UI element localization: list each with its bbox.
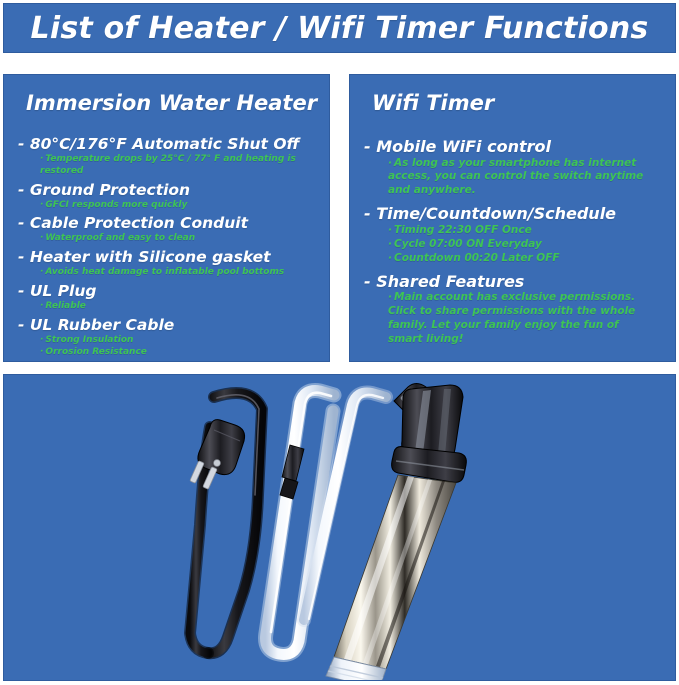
feature-sub-list: Strong Insulation Orrosion Resistance — [18, 335, 319, 359]
feature-item: - 80°C/176°F Automatic Shut Off Temperat… — [18, 135, 319, 178]
feature-sub-item: Avoids heat damage to inflatable pool bo… — [40, 267, 319, 279]
feature-sub-item: Timing 22:30 OFF Once — [388, 224, 656, 238]
feature-sub-item: Main account has exclusive permissions. … — [388, 291, 656, 347]
plug-ground-pin — [214, 460, 221, 467]
feature-item: - UL Plug Reliable — [18, 282, 319, 313]
heater-head-housing — [392, 384, 467, 483]
feature-heading: - Mobile WiFi control — [364, 137, 665, 157]
feature-item: - Shared Features Main account has exclu… — [364, 272, 665, 347]
feature-sub-list: Timing 22:30 OFF Once Cycle 07:00 ON Eve… — [364, 224, 665, 266]
feature-item: - UL Rubber Cable Strong Insulation Orro… — [18, 316, 319, 359]
panel-title-immersion-water-heater: Immersion Water Heater — [26, 91, 319, 115]
feature-sub-item: Waterproof and easy to clean — [40, 233, 319, 245]
feature-heading: - UL Plug — [18, 282, 319, 301]
immersion-heater-product-illustration — [4, 375, 675, 680]
feature-sub-item: Countdown 00:20 Later OFF — [388, 252, 656, 266]
panel-immersion-water-heater: Immersion Water Heater - 80°C/176°F Auto… — [3, 74, 330, 362]
feature-heading: - Cable Protection Conduit — [18, 214, 319, 233]
feature-sub-item: As long as your smartphone has internet … — [388, 157, 656, 199]
feature-sub-list: Waterproof and easy to clean — [18, 233, 319, 245]
feature-sub-item: GFCI responds more quickly — [40, 200, 319, 212]
feature-heading: - Heater with Silicone gasket — [18, 248, 319, 267]
feature-heading: - 80°C/176°F Automatic Shut Off — [18, 135, 319, 154]
feature-sub-list: GFCI responds more quickly — [18, 200, 319, 212]
feature-sub-item: Reliable — [40, 301, 319, 313]
feature-sub-list: Reliable — [18, 301, 319, 313]
feature-item: - Mobile WiFi control As long as your sm… — [364, 137, 665, 198]
feature-item: - Heater with Silicone gasket Avoids hea… — [18, 248, 319, 279]
product-image-section — [3, 374, 676, 681]
feature-item: - Time/Countdown/Schedule Timing 22:30 O… — [364, 204, 665, 265]
feature-panels-row: Immersion Water Heater - 80°C/176°F Auto… — [3, 74, 676, 362]
feature-sub-list: Main account has exclusive permissions. … — [364, 291, 665, 347]
page-header-banner: List of Heater / Wifi Timer Functions — [3, 3, 676, 53]
panel-wifi-timer: Wifi Timer - Mobile WiFi control As long… — [349, 74, 676, 362]
feature-sub-list: Temperature drops by 25°C / 77° F and he… — [18, 154, 319, 178]
feature-sub-list: Avoids heat damage to inflatable pool bo… — [18, 267, 319, 279]
feature-sub-item: Strong Insulation — [40, 335, 319, 347]
feature-heading: - UL Rubber Cable — [18, 316, 319, 335]
feature-heading: - Time/Countdown/Schedule — [364, 204, 665, 224]
feature-item: - Ground Protection GFCI responds more q… — [18, 181, 319, 212]
feature-sub-list: As long as your smartphone has internet … — [364, 157, 665, 199]
product-photo-background — [4, 375, 675, 680]
feature-heading: - Shared Features — [364, 272, 665, 292]
page-title: List of Heater / Wifi Timer Functions — [31, 11, 649, 46]
feature-sub-item: Cycle 07:00 ON Everyday — [388, 238, 656, 252]
feature-sub-item: Temperature drops by 25°C / 77° F and he… — [40, 154, 319, 178]
feature-heading: - Ground Protection — [18, 181, 319, 200]
panel-title-wifi-timer: Wifi Timer — [372, 91, 665, 115]
feature-sub-item: Orrosion Resistance — [40, 347, 319, 359]
feature-item: - Cable Protection Conduit Waterproof an… — [18, 214, 319, 245]
